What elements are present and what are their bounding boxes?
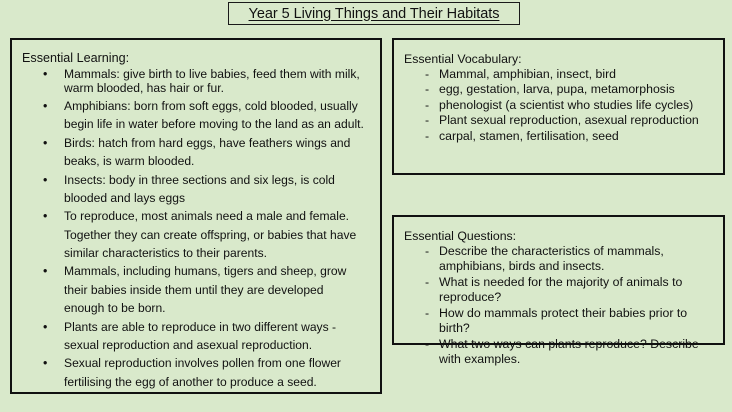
list-item: phenologist (a scientist who studies lif… — [394, 98, 723, 113]
essential-questions-heading: Essential Questions: — [404, 229, 723, 243]
essential-learning-list: Mammals: give birth to live babies, feed… — [12, 67, 380, 391]
list-item: Plant sexual reproduction, asexual repro… — [394, 113, 723, 128]
essential-vocabulary-list: Mammal, amphibian, insect, bird egg, ges… — [394, 67, 723, 144]
list-item: Describe the characteristics of mammals,… — [394, 244, 723, 275]
list-item: carpal, stamen, fertilisation, seed — [394, 129, 723, 144]
list-item: Birds: hatch from hard eggs, have feathe… — [12, 134, 372, 171]
list-item: Plants are able to reproduce in two diff… — [12, 318, 372, 355]
essential-vocabulary-panel: Essential Vocabulary: Mammal, amphibian,… — [392, 38, 725, 175]
essential-learning-heading: Essential Learning: — [22, 51, 380, 65]
essential-learning-panel: Essential Learning: Mammals: give birth … — [10, 38, 382, 394]
list-item: Mammal, amphibian, insect, bird — [394, 67, 723, 82]
knowledge-organiser-page: Year 5 Living Things and Their Habitats … — [0, 0, 732, 412]
list-item: Sexual reproduction involves pollen from… — [12, 354, 372, 391]
list-item: Amphibians: born from soft eggs, cold bl… — [12, 97, 372, 134]
essential-vocabulary-heading: Essential Vocabulary: — [404, 52, 723, 66]
list-item: To reproduce, most animals need a male a… — [12, 207, 372, 262]
list-item: Mammals, including humans, tigers and sh… — [12, 262, 372, 317]
list-item: Mammals: give birth to live babies, feed… — [12, 67, 372, 97]
essential-questions-panel: Essential Questions: Describe the charac… — [392, 215, 725, 345]
list-item: How do mammals protect their babies prio… — [394, 306, 723, 337]
list-item: What two ways can plants reproduce? Desc… — [394, 337, 723, 368]
list-item: egg, gestation, larva, pupa, metamorphos… — [394, 82, 723, 97]
page-title-box: Year 5 Living Things and Their Habitats — [228, 2, 520, 25]
page-title: Year 5 Living Things and Their Habitats — [249, 6, 500, 22]
list-item: What is needed for the majority of anima… — [394, 275, 723, 306]
essential-questions-list: Describe the characteristics of mammals,… — [394, 244, 723, 368]
list-item: Insects: body in three sections and six … — [12, 171, 372, 208]
